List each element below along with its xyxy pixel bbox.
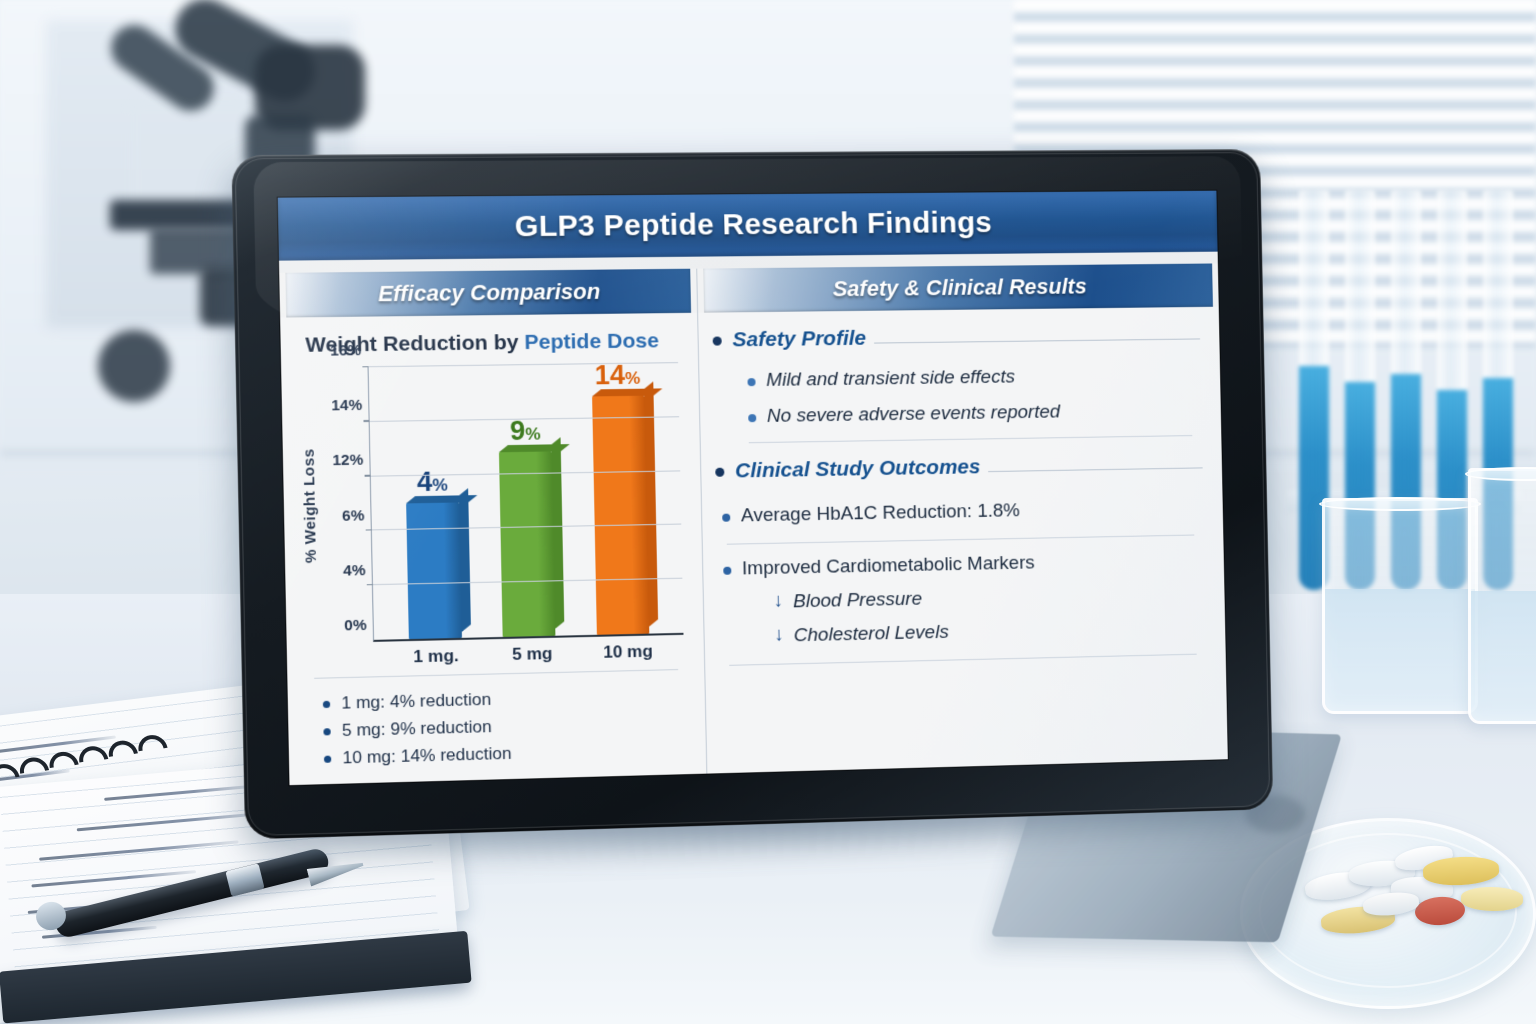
tablet-device: GLP3 Peptide Research Findings Efficacy … bbox=[231, 149, 1273, 839]
bullet-dot-icon bbox=[748, 414, 756, 422]
heading-clinical-outcomes-text: Clinical Study Outcomes bbox=[735, 455, 981, 483]
bar-side bbox=[459, 488, 471, 631]
chart-bars: 4%9%14% bbox=[369, 363, 684, 640]
bullet-dot-icon bbox=[722, 514, 730, 522]
list-item: 10 mg: 14% reduction bbox=[322, 739, 692, 769]
beaker-liquid bbox=[1471, 591, 1536, 721]
chart-title-part2: Peptide Dose bbox=[524, 329, 659, 354]
arrow-down-icon: ↓ bbox=[774, 626, 784, 647]
x-tick-label: 1 mg. bbox=[406, 646, 466, 668]
chart-plot-area: 4%9%14% bbox=[368, 363, 684, 642]
bar-side bbox=[552, 437, 565, 628]
bar-value-label: 14% bbox=[595, 362, 641, 390]
bar: 4% bbox=[406, 502, 462, 639]
bar-value-label: 9% bbox=[510, 417, 541, 445]
clinical-item-2: Improved Cardiometabolic Markers bbox=[742, 553, 1035, 581]
y-axis-tick-labels: 16%14%12%6%4%0% bbox=[318, 367, 373, 643]
panel-header-safety-text: Safety & Clinical Results bbox=[833, 274, 1087, 303]
bar: 9% bbox=[499, 452, 555, 637]
bullet-dot-icon bbox=[723, 567, 731, 575]
clinical-arrow-1: Blood Pressure bbox=[793, 589, 922, 614]
y-tick-label: 16% bbox=[330, 341, 361, 359]
list-item: No severe adverse events reported bbox=[748, 399, 1202, 428]
divider-line bbox=[727, 535, 1195, 545]
divider-line bbox=[749, 435, 1193, 443]
dose-reduction-list: 1 mg: 4% reduction5 mg: 9% reduction10 m… bbox=[302, 678, 692, 777]
y-tick-mark bbox=[367, 584, 373, 586]
bar-face bbox=[592, 396, 649, 635]
list-item: ↓ Blood Pressure bbox=[774, 583, 1206, 614]
heading-safety-profile-text: Safety Profile bbox=[732, 327, 866, 353]
y-tick-label: 12% bbox=[332, 451, 363, 469]
bar-face bbox=[499, 452, 555, 637]
list-item: Average HbA1C Reduction: 1.8% bbox=[722, 497, 1204, 528]
slide-title-text: GLP3 Peptide Research Findings bbox=[515, 206, 993, 244]
beaker-liquid bbox=[1325, 589, 1475, 711]
y-tick-mark bbox=[362, 366, 368, 368]
safety-item-2: No severe adverse events reported bbox=[767, 402, 1060, 428]
bullet-dot-icon bbox=[712, 336, 721, 345]
bullet-dot-icon bbox=[715, 467, 724, 476]
clinical-arrow-2: Cholesterol Levels bbox=[794, 622, 949, 647]
heading-underline bbox=[988, 467, 1202, 472]
panel-body-efficacy: Weight Reduction by Peptide Dose % Weigh… bbox=[280, 313, 706, 785]
panel-safety: Safety & Clinical Results Safety Profile… bbox=[696, 263, 1228, 773]
slide-panels: Efficacy Comparison Weight Reduction by … bbox=[279, 263, 1228, 785]
y-tick-mark bbox=[365, 475, 371, 477]
microscope-focus-knob bbox=[98, 330, 170, 402]
tablet-screen[interactable]: GLP3 Peptide Research Findings Efficacy … bbox=[278, 191, 1228, 786]
bar-value-label: 4% bbox=[417, 468, 448, 496]
x-tick-label: 5 mg bbox=[503, 644, 562, 666]
bullet-dot-icon bbox=[747, 378, 755, 386]
y-tick-label: 0% bbox=[344, 616, 367, 634]
arrow-down-icon: ↓ bbox=[774, 592, 784, 613]
bar-column: 14% bbox=[588, 364, 652, 635]
bar-chart: % Weight Loss 16%14%12%6%4%0% 4%9%14% bbox=[296, 363, 690, 644]
heading-clinical-outcomes: Clinical Study Outcomes bbox=[715, 452, 1203, 484]
beaker-rim bbox=[1319, 497, 1481, 511]
pill-cream bbox=[1461, 886, 1523, 911]
panel-header-efficacy: Efficacy Comparison bbox=[285, 269, 691, 318]
panel-header-safety: Safety & Clinical Results bbox=[703, 263, 1213, 312]
y-tick-label: 4% bbox=[343, 561, 366, 579]
beaker-back bbox=[1468, 468, 1536, 724]
beaker-rim bbox=[1465, 467, 1536, 481]
list-item: 5 mg: 9% reduction bbox=[321, 712, 691, 742]
clinical-item-1: Average HbA1C Reduction: 1.8% bbox=[741, 500, 1020, 527]
bar-column: 9% bbox=[495, 365, 559, 637]
panel-header-efficacy-text: Efficacy Comparison bbox=[378, 279, 601, 308]
y-tick-mark bbox=[366, 529, 372, 531]
divider-line bbox=[729, 654, 1197, 666]
slide-title-bar: GLP3 Peptide Research Findings bbox=[278, 191, 1218, 261]
chart-title: Weight Reduction by Peptide Dose bbox=[305, 329, 684, 358]
heading-safety-profile: Safety Profile bbox=[712, 323, 1200, 353]
safety-item-1: Mild and transient side effects bbox=[766, 367, 1015, 392]
heading-underline bbox=[874, 338, 1200, 343]
x-tick-label: 10 mg bbox=[599, 641, 658, 662]
bar-column: 4% bbox=[400, 366, 465, 639]
y-tick-label: 14% bbox=[331, 396, 362, 414]
panel-efficacy: Efficacy Comparison Weight Reduction by … bbox=[279, 269, 706, 785]
panel-body-safety: Safety Profile Mild and transient side e… bbox=[698, 307, 1228, 774]
list-item: Mild and transient side effects bbox=[747, 364, 1201, 392]
presentation-slide: GLP3 Peptide Research Findings Efficacy … bbox=[278, 191, 1228, 786]
bar: 14% bbox=[592, 396, 649, 635]
bar-face bbox=[406, 502, 462, 639]
y-tick-mark bbox=[363, 420, 369, 422]
list-item: Improved Cardiometabolic Markers bbox=[723, 549, 1205, 581]
y-tick-label: 6% bbox=[342, 506, 365, 524]
list-item: ↓ Cholesterol Levels bbox=[774, 616, 1206, 648]
divider-line bbox=[314, 669, 678, 679]
list-item: 1 mg: 4% reduction bbox=[321, 685, 691, 714]
beaker-front bbox=[1322, 498, 1478, 714]
